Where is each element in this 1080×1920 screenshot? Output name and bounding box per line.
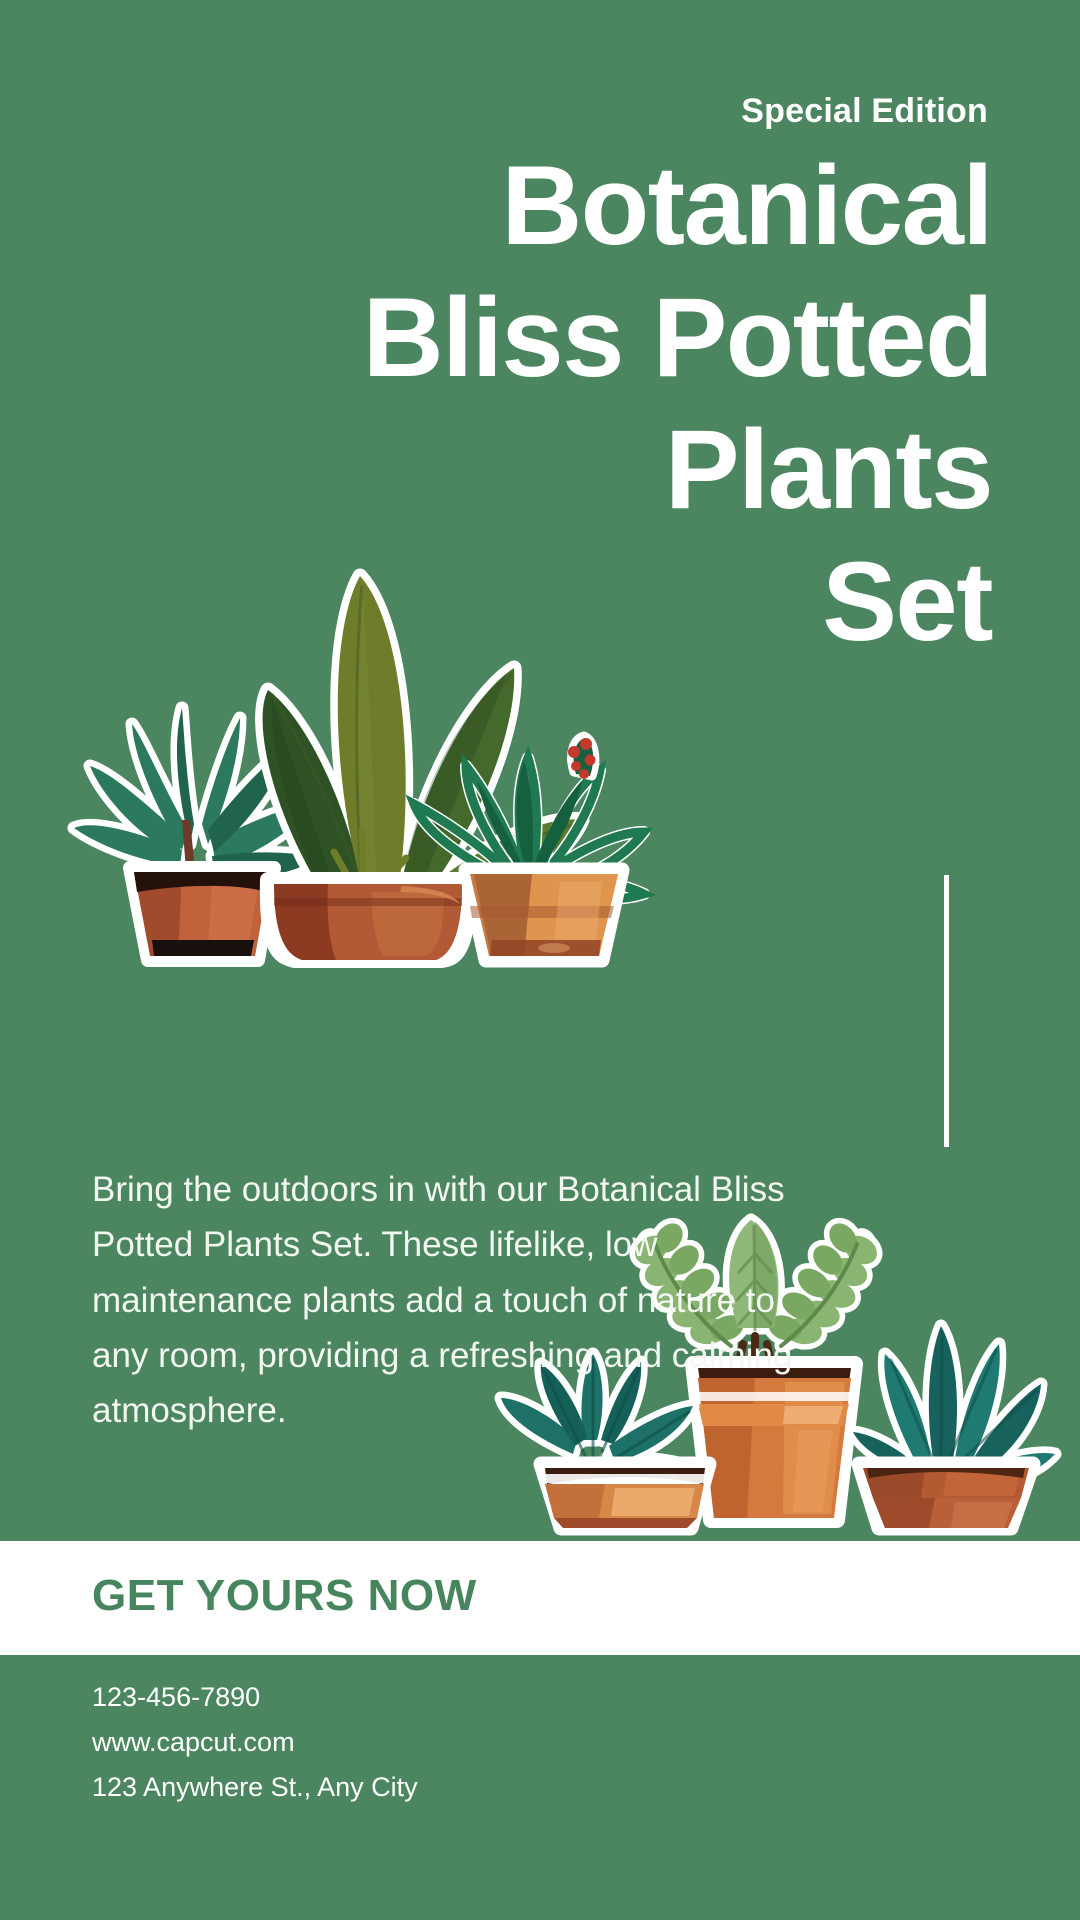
eyebrow-label: Special Edition bbox=[741, 92, 988, 131]
red-flower-cluster bbox=[568, 736, 596, 779]
footer-website[interactable]: www.capcut.com bbox=[92, 1720, 418, 1765]
footer-phone[interactable]: 123-456-7890 bbox=[92, 1675, 418, 1720]
footer-address: 123 Anywhere St., Any City bbox=[92, 1765, 418, 1810]
footer-contact: 123-456-7890 www.capcut.com 123 Anywhere… bbox=[92, 1675, 418, 1809]
title-line-2: Bliss Potted bbox=[60, 272, 992, 404]
poster-canvas: Special Edition Botanical Bliss Potted P… bbox=[0, 0, 1080, 1920]
title-line-1: Botanical bbox=[60, 140, 992, 272]
title-line-3: Plants bbox=[60, 404, 992, 536]
agave-terracotta-pot-group bbox=[853, 1326, 1055, 1528]
vertical-divider bbox=[944, 875, 949, 1147]
page-title: Botanical Bliss Potted Plants Set bbox=[60, 140, 992, 669]
body-paragraph: Bring the outdoors in with our Botanical… bbox=[92, 1162, 807, 1438]
cta-button[interactable]: GET YOURS NOW bbox=[92, 1571, 477, 1621]
title-line-4: Set bbox=[60, 536, 992, 668]
